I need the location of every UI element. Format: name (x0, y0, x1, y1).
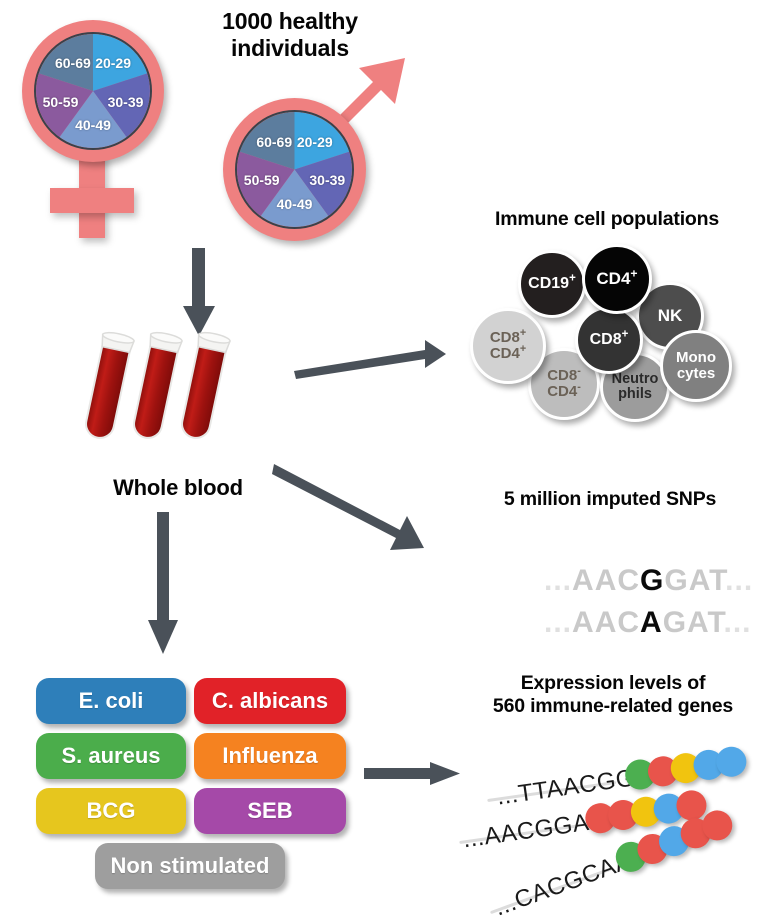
stimulus-s-aureus[interactable]: S. aureus (36, 733, 186, 779)
blood-tubes-group (95, 330, 275, 450)
female-age-pie: 20-2930-3940-4950-5960-69 (34, 32, 152, 150)
pie-label-50-59: 50-59 (43, 94, 79, 110)
snp-suffix: ... (723, 606, 751, 639)
cohort-title-line1: 1000 healthy (175, 8, 405, 35)
expression-strands: ...TTAACGG ...AACGGAT ...CACGCAA (460, 745, 771, 920)
pie-label-30-39: 30-39 (108, 94, 144, 110)
snp-variant-allele: A (640, 606, 663, 639)
pie-label-60-69: 60-69 (55, 55, 91, 71)
figure-canvas: 1000 healthy individuals 20-2930-3940-49… (0, 0, 771, 922)
arrow-blood-to-snps (272, 452, 462, 562)
immune-cell-label: phils (618, 387, 652, 402)
whole-blood-label: Whole blood (78, 475, 278, 501)
immune-cell-label: NK (658, 307, 683, 325)
pie-label-30-39: 30-39 (309, 172, 345, 188)
immune-cell-label: Neutro (612, 372, 659, 387)
immune-cell-label: Mono (676, 350, 716, 366)
immune-cell-label: CD8- (547, 368, 581, 384)
stimulus-e-coli[interactable]: E. coli (36, 678, 186, 724)
stimulus-non-stimulated[interactable]: Non stimulated (95, 843, 285, 889)
stimulus-influenza[interactable]: Influenza (194, 733, 346, 779)
immune-cell-label: CD4+ (490, 346, 526, 362)
expression-title-line1: Expression levels of (458, 672, 768, 695)
immune-cell-cd8: CD8+ (575, 306, 643, 374)
immune-cell-label: CD4+ (596, 270, 637, 288)
snp-sequence-row: ...AACAGAT... (488, 572, 752, 674)
snp-right-flank: GAT (663, 606, 724, 639)
snp-prefix: ... (544, 606, 572, 639)
immune-cell-label: cytes (677, 366, 715, 382)
immune-cell-cd8pos-cd4pos: CD8+ CD4+ (470, 308, 546, 384)
pie-label-40-49: 40-49 (75, 117, 111, 133)
immune-cell-label: CD19+ (528, 276, 576, 293)
expression-title-line2: 560 immune-related genes (458, 695, 768, 718)
immune-cell-cd19: CD19+ (518, 250, 586, 318)
male-symbol: 20-2930-3940-4950-5960-69 (205, 40, 420, 250)
pie-label-60-69: 60-69 (256, 134, 292, 150)
pie-label-20-29: 20-29 (297, 134, 333, 150)
pie-label-40-49: 40-49 (277, 196, 313, 212)
male-age-pie: 20-2930-3940-4950-5960-69 (235, 110, 354, 229)
immune-cell-label: CD8+ (590, 332, 629, 349)
stimulus-seb[interactable]: SEB (194, 788, 346, 834)
snp-sequences: ...AACGGAT... ...AACAGAT... (488, 530, 738, 620)
female-symbol: 20-2930-3940-4950-5960-69 (8, 14, 188, 244)
blood-tube (81, 326, 137, 441)
female-crossbar (50, 188, 134, 213)
immune-cell-title: Immune cell populations (452, 208, 762, 231)
expression-title: Expression levels of 560 immune-related … (458, 672, 768, 718)
immune-cell-monocytes: Mono cytes (660, 330, 732, 402)
blood-tube (129, 326, 185, 441)
pie-label-20-29: 20-29 (95, 55, 131, 71)
stimulus-c-albicans[interactable]: C. albicans (194, 678, 346, 724)
snps-title: 5 million imputed SNPs (460, 488, 760, 511)
stimuli-panel: E. coli C. albicans S. aureus Influenza … (30, 678, 350, 898)
immune-cell-cluster: CD8- CD4- Neutro phils CD8+ CD4+ NK Mono… (460, 240, 760, 420)
pie-label-50-59: 50-59 (244, 172, 280, 188)
stimulus-bcg[interactable]: BCG (36, 788, 186, 834)
arrow-blood-to-immune-cells (294, 330, 464, 390)
snp-left-flank: AAC (572, 606, 640, 639)
immune-cell-label: CD4- (547, 384, 581, 400)
arrow-blood-to-stimuli (140, 512, 200, 662)
blood-tube (177, 326, 233, 441)
immune-cell-cd4: CD4+ (582, 244, 652, 314)
